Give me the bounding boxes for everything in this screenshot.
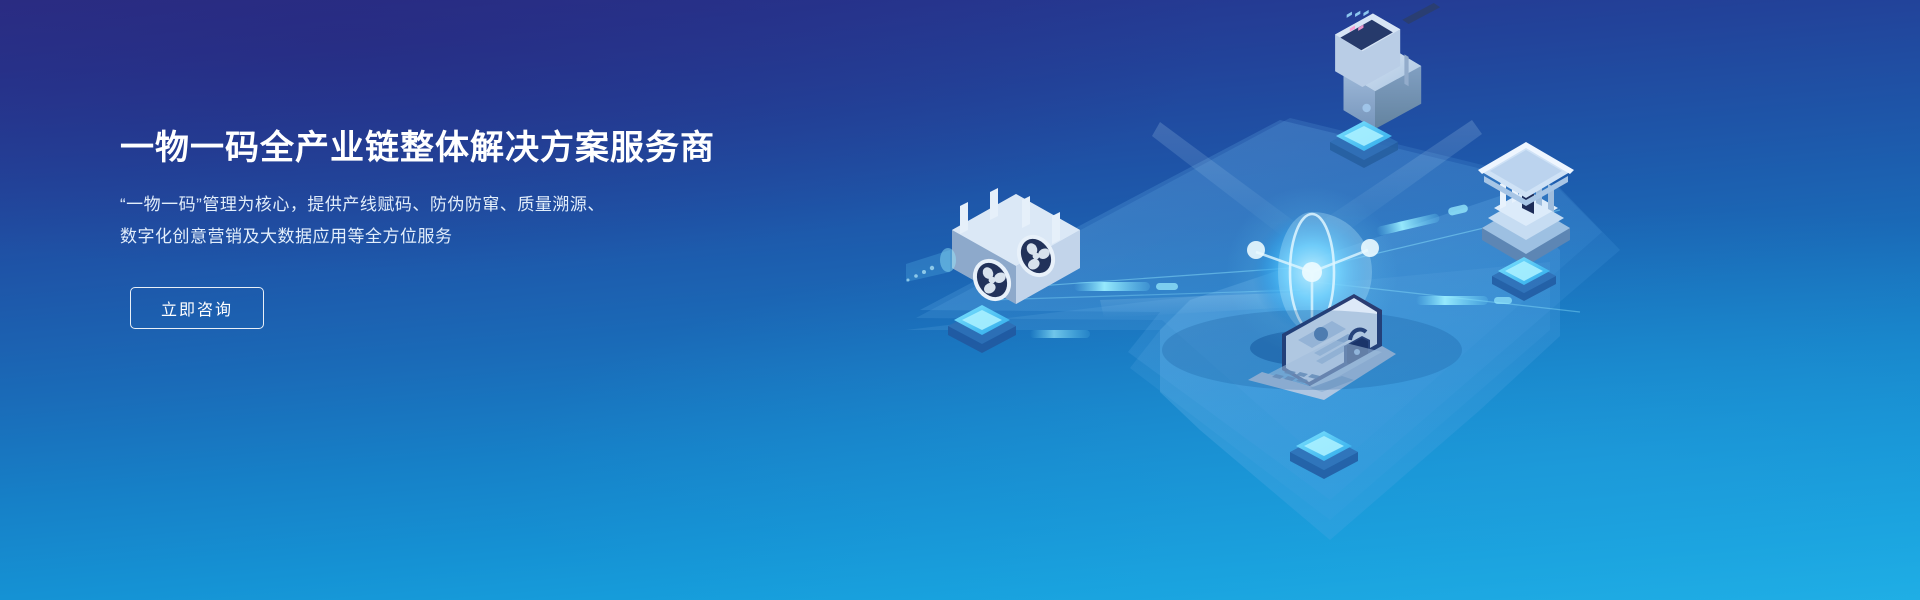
- link-pulse-left: [1074, 282, 1178, 291]
- hero-banner: 一物一码全产业链整体解决方案服务商 “一物一码”管理为核心，提供产线赋码、防伪防…: [0, 0, 1920, 600]
- consult-now-button[interactable]: 立即咨询: [130, 287, 264, 329]
- subtitle-line-2: 数字化创意营销及大数据应用等全方位服务: [120, 221, 760, 253]
- pos-terminal-icon: [1335, 3, 1440, 129]
- link-pulse-bottom: [1030, 330, 1090, 338]
- link-pulse-lower-right: [1416, 296, 1512, 305]
- scan-beam-icon: [906, 248, 956, 282]
- subtitle-line-1: “一物一码”管理为核心，提供产线赋码、防伪防窜、质量溯源、: [120, 189, 760, 221]
- page-title: 一物一码全产业链整体解决方案服务商: [120, 128, 760, 169]
- hero-subtitle: “一物一码”管理为核心，提供产线赋码、防伪防窜、质量溯源、 数字化创意营销及大数…: [120, 189, 760, 253]
- hero-copy: 一物一码全产业链整体解决方案服务商 “一物一码”管理为核心，提供产线赋码、防伪防…: [120, 128, 760, 329]
- hero-illustration: [860, 0, 1640, 600]
